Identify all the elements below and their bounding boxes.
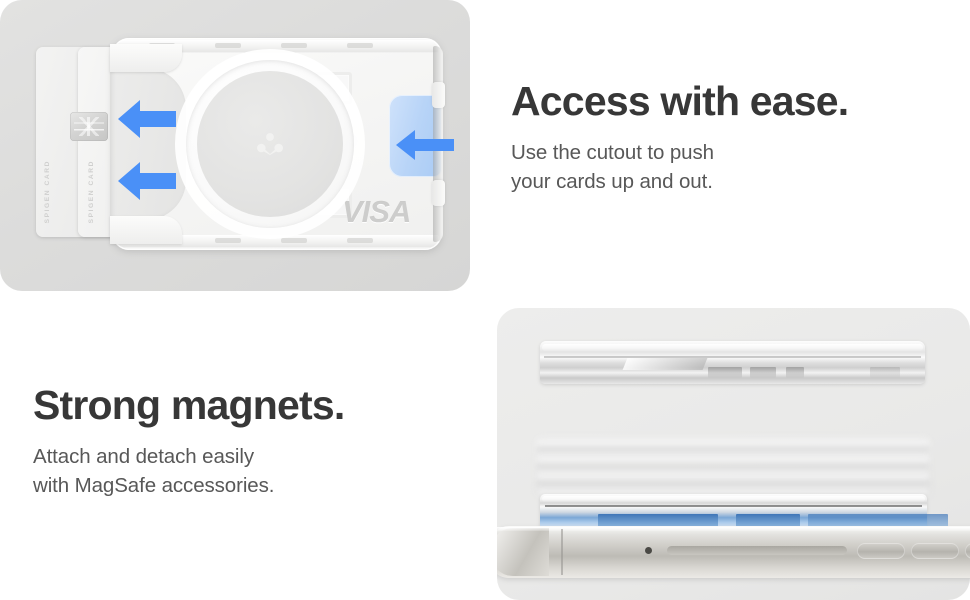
magsafe-ring [186,60,354,228]
magnet-product-photo [497,308,970,600]
volume-up-button[interactable] [857,543,905,559]
access-headline: Access with ease. [511,78,848,125]
action-button[interactable] [965,543,970,559]
access-subtext: Use the cutout to push your cards up and… [511,138,848,196]
emv-chip-icon-back [70,112,108,141]
access-feature-text: Access with ease. Use the cutout to push… [511,78,848,196]
iphone-corner [497,528,549,576]
speaker-grille [667,546,847,555]
slot-arm-upper [110,44,182,72]
magnets-subtext: Attach and detach easily with MagSafe ac… [33,442,344,500]
wallet-feature-panel: SPIGEN CARD SPIGEN CARD VIS [0,0,470,291]
motion-blur-stack [537,438,929,495]
card-front-label: SPIGEN CARD [88,160,95,223]
magnets-feature-text: Strong magnets. Attach and detach easily… [33,382,344,500]
card-eject-arrow-lower-icon [118,160,176,202]
magnets-headline: Strong magnets. [33,382,344,429]
spigen-logo-icon [257,133,283,155]
iphone-edge [497,526,970,578]
visa-logo: VISA [342,194,410,230]
slot-arm-lower [110,216,182,244]
wallet-product-photo: SPIGEN CARD SPIGEN CARD VIS [0,0,470,291]
magsafe-card-holder-shell: VISA [112,38,442,250]
edge-tab-lower [432,180,445,206]
edge-tab-upper [432,82,445,108]
card-holder-edge-detached [540,341,925,384]
microphone-hole [645,547,652,554]
cutout-push-arrow-icon [396,128,454,162]
card-back-label: SPIGEN CARD [44,160,51,223]
iphone-antenna-seam [561,529,563,575]
magnets-feature-panel [497,308,970,600]
volume-down-button[interactable] [911,543,959,559]
card-eject-arrow-upper-icon [118,98,176,140]
